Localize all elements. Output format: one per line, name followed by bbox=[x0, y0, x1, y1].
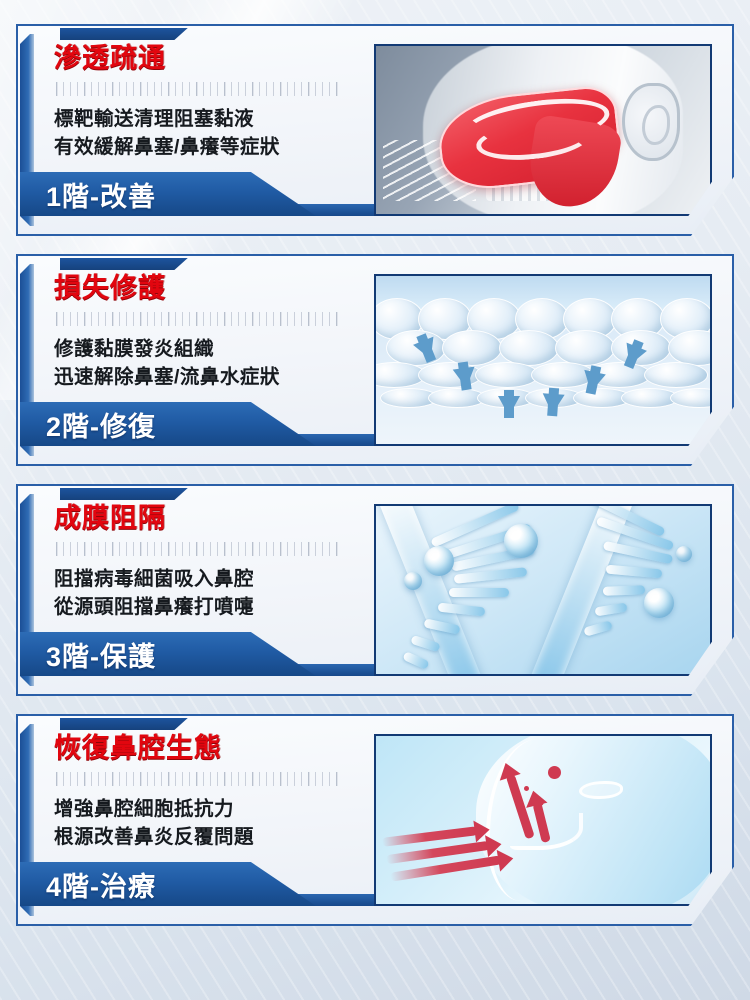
ruler-decoration bbox=[56, 82, 338, 96]
bubble-shape bbox=[424, 546, 454, 576]
scene bbox=[376, 46, 710, 214]
bubble-shape bbox=[404, 572, 422, 590]
scene bbox=[376, 276, 710, 444]
stage-panel-3[interactable]: 成膜阻隔 阻擋病毒細菌吸入鼻腔 從源頭阻擋鼻癢打噴嚏 3階-保護 bbox=[16, 484, 734, 696]
panel-body-line: 有效緩解鼻塞/鼻癢等症狀 bbox=[54, 134, 354, 162]
panel-body-line: 修護黏膜發炎組織 bbox=[54, 336, 354, 364]
scene bbox=[376, 736, 710, 904]
panel-body-line: 根源改善鼻炎反覆問題 bbox=[54, 824, 354, 852]
cell-shape bbox=[442, 330, 502, 366]
dna-base-pair bbox=[606, 565, 663, 579]
panel-inner: 滲透疏通 標靶輸送清理阻塞黏液 有效緩解鼻塞/鼻癢等症狀 1階-改善 bbox=[20, 28, 730, 232]
dna-base-pair bbox=[403, 651, 430, 670]
panel-heading: 損失修護 bbox=[54, 272, 354, 304]
ruler-decoration bbox=[56, 772, 338, 786]
scene bbox=[376, 506, 710, 674]
stage-ribbon-label: 1階-改善 bbox=[20, 175, 156, 214]
down-arrow-icon bbox=[453, 367, 478, 390]
panel-heading: 恢復鼻腔生態 bbox=[54, 732, 354, 764]
cell-shape bbox=[499, 330, 559, 366]
stage-ribbon-label: 3階-保護 bbox=[20, 635, 156, 674]
ruler-decoration bbox=[56, 312, 338, 326]
stage-panel-4[interactable]: 恢復鼻腔生態 增強鼻腔細胞抵抗力 根源改善鼻炎反覆問題 4階-治療 bbox=[16, 714, 734, 926]
stage-ribbon-label: 4階-治療 bbox=[20, 865, 156, 904]
dna-base-pair bbox=[454, 567, 528, 584]
particle-dot bbox=[524, 786, 529, 791]
panel-copy: 損失修護 修護黏膜發炎組織 迅速解除鼻塞/流鼻水症狀 bbox=[54, 272, 354, 392]
panel-body: 標靶輸送清理阻塞黏液 有效緩解鼻塞/鼻癢等症狀 bbox=[54, 106, 354, 161]
airflow-nose-illustration bbox=[374, 734, 712, 906]
ear-shape bbox=[622, 83, 680, 161]
cell-shape bbox=[555, 330, 615, 366]
dna-base-pair bbox=[583, 620, 612, 636]
panel-copy: 恢復鼻腔生態 增強鼻腔細胞抵抗力 根源改善鼻炎反覆問題 bbox=[54, 732, 354, 852]
panel-body-line: 迅速解除鼻塞/流鼻水症狀 bbox=[54, 364, 354, 392]
cell-shape bbox=[670, 388, 712, 408]
panel-copy: 成膜阻隔 阻擋病毒細菌吸入鼻腔 從源頭阻擋鼻癢打噴嚏 bbox=[54, 502, 354, 622]
stage-ribbon[interactable]: 4階-治療 bbox=[20, 862, 316, 906]
cell-shape bbox=[475, 362, 539, 388]
panel-body: 阻擋病毒細菌吸入鼻腔 從源頭阻擋鼻癢打噴嚏 bbox=[54, 566, 354, 621]
down-arrow-icon bbox=[541, 393, 564, 414]
cell-shape bbox=[668, 330, 712, 366]
panel-top-tab bbox=[60, 258, 190, 270]
particle-dot bbox=[536, 798, 544, 806]
panel-body-line: 阻擋病毒細菌吸入鼻腔 bbox=[54, 566, 354, 594]
mucosa-cells-illustration bbox=[374, 274, 712, 446]
bubble-shape bbox=[644, 588, 674, 618]
panel-body: 增強鼻腔細胞抵抗力 根源改善鼻炎反覆問題 bbox=[54, 796, 354, 851]
panel-body: 修護黏膜發炎組織 迅速解除鼻塞/流鼻水症狀 bbox=[54, 336, 354, 391]
stage-ribbon[interactable]: 3階-保護 bbox=[20, 632, 316, 676]
dna-base-pair bbox=[594, 603, 627, 617]
panel-top-tab bbox=[60, 718, 190, 730]
panel-top-tab bbox=[60, 488, 190, 500]
dna-base-pair bbox=[449, 588, 509, 597]
dna-base-pair bbox=[603, 585, 645, 595]
panel-inner: 恢復鼻腔生態 增強鼻腔細胞抵抗力 根源改善鼻炎反覆問題 4階-治療 bbox=[20, 718, 730, 922]
cell-shape bbox=[644, 362, 708, 388]
panel-inner: 成膜阻隔 阻擋病毒細菌吸入鼻腔 從源頭阻擋鼻癢打噴嚏 3階-保護 bbox=[20, 488, 730, 692]
bubble-shape bbox=[504, 524, 538, 558]
stage-panel-2[interactable]: 損失修護 修護黏膜發炎組織 迅速解除鼻塞/流鼻水症狀 2階-修復 bbox=[16, 254, 734, 466]
panel-top-tab bbox=[60, 28, 190, 40]
bubble-shape bbox=[676, 546, 692, 562]
down-arrow-icon bbox=[580, 370, 606, 394]
panel-heading: 滲透疏通 bbox=[54, 42, 354, 74]
panel-list: 滲透疏通 標靶輸送清理阻塞黏液 有效緩解鼻塞/鼻癢等症狀 1階-改善 bbox=[0, 0, 750, 940]
particle-dot bbox=[548, 766, 561, 779]
ruler-decoration bbox=[56, 542, 338, 556]
panel-inner: 損失修護 修護黏膜發炎組織 迅速解除鼻塞/流鼻水症狀 2階-修復 bbox=[20, 258, 730, 462]
panel-body-line: 標靶輸送清理阻塞黏液 bbox=[54, 106, 354, 134]
panel-body-line: 從源頭阻擋鼻癢打噴嚏 bbox=[54, 594, 354, 622]
stage-panel-1[interactable]: 滲透疏通 標靶輸送清理阻塞黏液 有效緩解鼻塞/鼻癢等症狀 1階-改善 bbox=[16, 24, 734, 236]
panel-heading: 成膜阻隔 bbox=[54, 502, 354, 534]
stage-ribbon-label: 2階-修復 bbox=[20, 405, 156, 444]
down-arrow-icon bbox=[498, 396, 520, 416]
panel-copy: 滲透疏通 標靶輸送清理阻塞黏液 有效緩解鼻塞/鼻癢等症狀 bbox=[54, 42, 354, 162]
nasal-cavity-illustration bbox=[374, 44, 712, 216]
stage-ribbon[interactable]: 1階-改善 bbox=[20, 172, 316, 216]
infographic-page: 滲透疏通 標靶輸送清理阻塞黏液 有效緩解鼻塞/鼻癢等症狀 1階-改善 bbox=[0, 0, 750, 1000]
panel-body-line: 增強鼻腔細胞抵抗力 bbox=[54, 796, 354, 824]
stage-ribbon[interactable]: 2階-修復 bbox=[20, 402, 316, 446]
dna-helix-illustration bbox=[374, 504, 712, 676]
